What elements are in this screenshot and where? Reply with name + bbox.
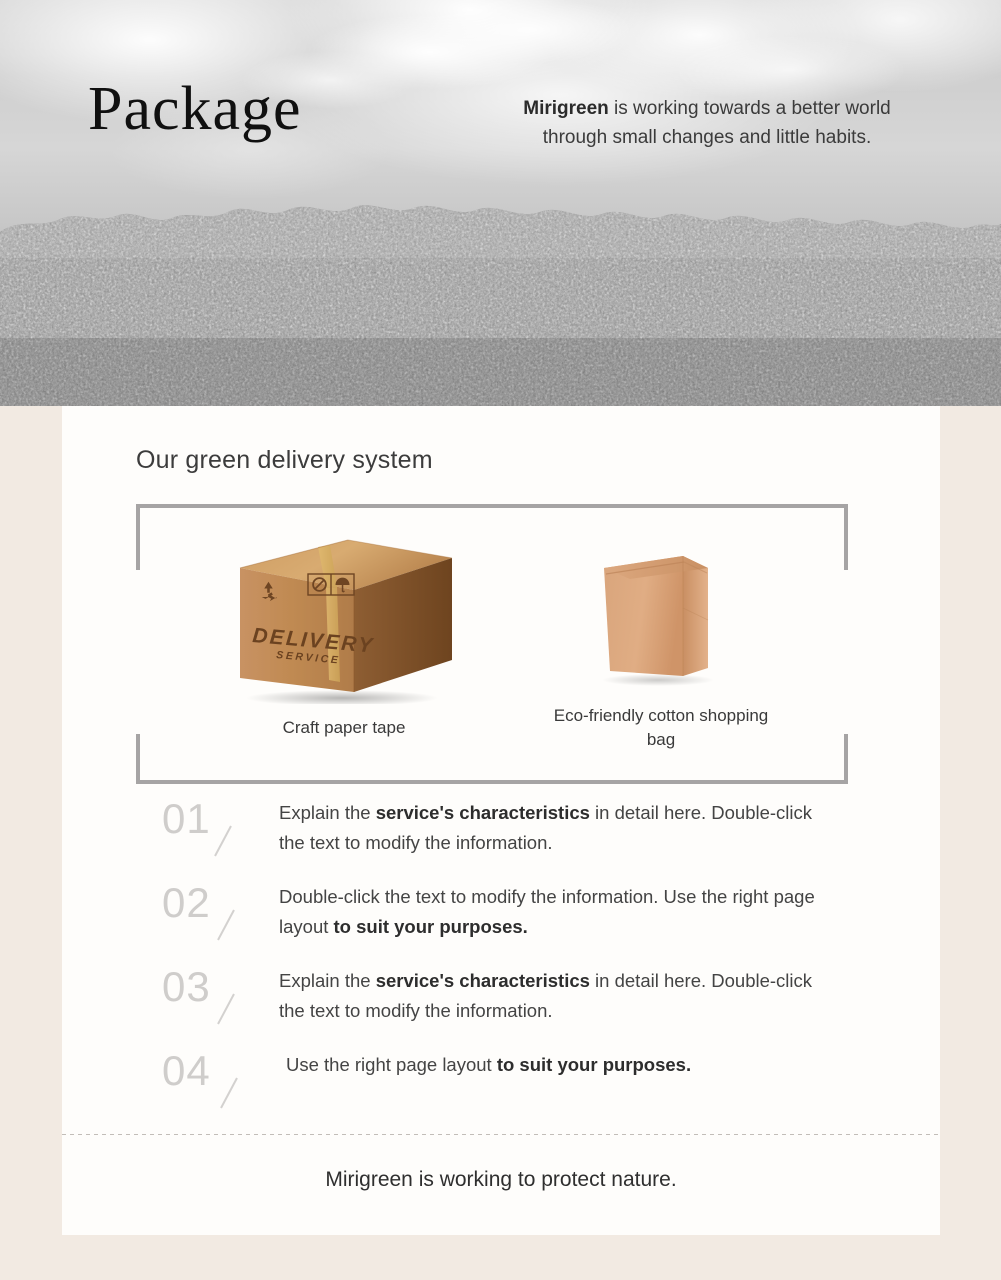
product-caption-box: Craft paper tape: [174, 716, 514, 740]
paper-bag-image: [588, 528, 728, 688]
footer-divider: [62, 1134, 940, 1135]
product-caption-bag: Eco-friendly cotton shopping bag: [546, 704, 776, 752]
list-item-text: Explain the service's characteristics in…: [279, 798, 839, 858]
list-item: 04 Use the right page layout to suit you…: [62, 1048, 940, 1110]
hero-banner: Package Mirigreen is working towards a b…: [0, 0, 1001, 406]
cardboard-box-illustration: DELIVERY SERVICE: [230, 532, 460, 704]
delivery-box-image: DELIVERY SERVICE: [230, 532, 460, 704]
text-part-bold: to suit your purposes.: [334, 916, 528, 937]
footer-text: Mirigreen is working to protect nature.: [62, 1168, 940, 1192]
frame-line-bottom: [136, 780, 848, 784]
product-showcase-frame: DELIVERY SERVICE: [136, 504, 848, 784]
text-part-bold: service's characteristics: [376, 970, 590, 991]
frame-corner-bottom-left: [136, 734, 140, 784]
forest-image: [0, 198, 1001, 406]
list-item: 02 Double-click the text to modify the i…: [62, 880, 940, 964]
list-item: 01 Explain the service's characteristics…: [62, 796, 940, 880]
list-item-text: Double-click the text to modify the info…: [279, 882, 839, 942]
text-part: Use the right page layout: [286, 1054, 497, 1075]
page-title: Package: [88, 78, 302, 140]
frame-line-top: [136, 504, 848, 508]
section-heading: Our green delivery system: [136, 446, 433, 475]
list-item-slash: [214, 826, 232, 857]
list-item-slash: [220, 1078, 238, 1109]
feature-list: 01 Explain the service's characteristics…: [62, 796, 940, 1110]
text-part-bold: to suit your purposes.: [497, 1054, 691, 1075]
content-card: Our green delivery system: [62, 406, 940, 1235]
paper-bag-illustration: [588, 528, 728, 688]
text-part: Explain the: [279, 802, 376, 823]
list-item-text: Use the right page layout to suit your p…: [286, 1050, 846, 1080]
frame-corner-top-left: [136, 504, 140, 570]
list-item-slash: [217, 994, 235, 1025]
list-item: 03 Explain the service's characteristics…: [62, 964, 940, 1048]
hero-subtitle: Mirigreen is working towards a better wo…: [498, 94, 916, 152]
list-item-number: 01: [162, 796, 211, 842]
list-item-number: 04: [162, 1048, 211, 1094]
forest-canopy-illustration: [0, 198, 1001, 406]
text-part-bold: service's characteristics: [376, 802, 590, 823]
frame-corner-bottom-right: [844, 734, 848, 784]
text-part: Explain the: [279, 970, 376, 991]
frame-corner-top-right: [844, 504, 848, 570]
list-item-number: 02: [162, 880, 211, 926]
list-item-text: Explain the service's characteristics in…: [279, 966, 839, 1026]
list-item-number: 03: [162, 964, 211, 1010]
list-item-slash: [217, 910, 235, 941]
hero-subtitle-brand: Mirigreen: [523, 98, 609, 119]
